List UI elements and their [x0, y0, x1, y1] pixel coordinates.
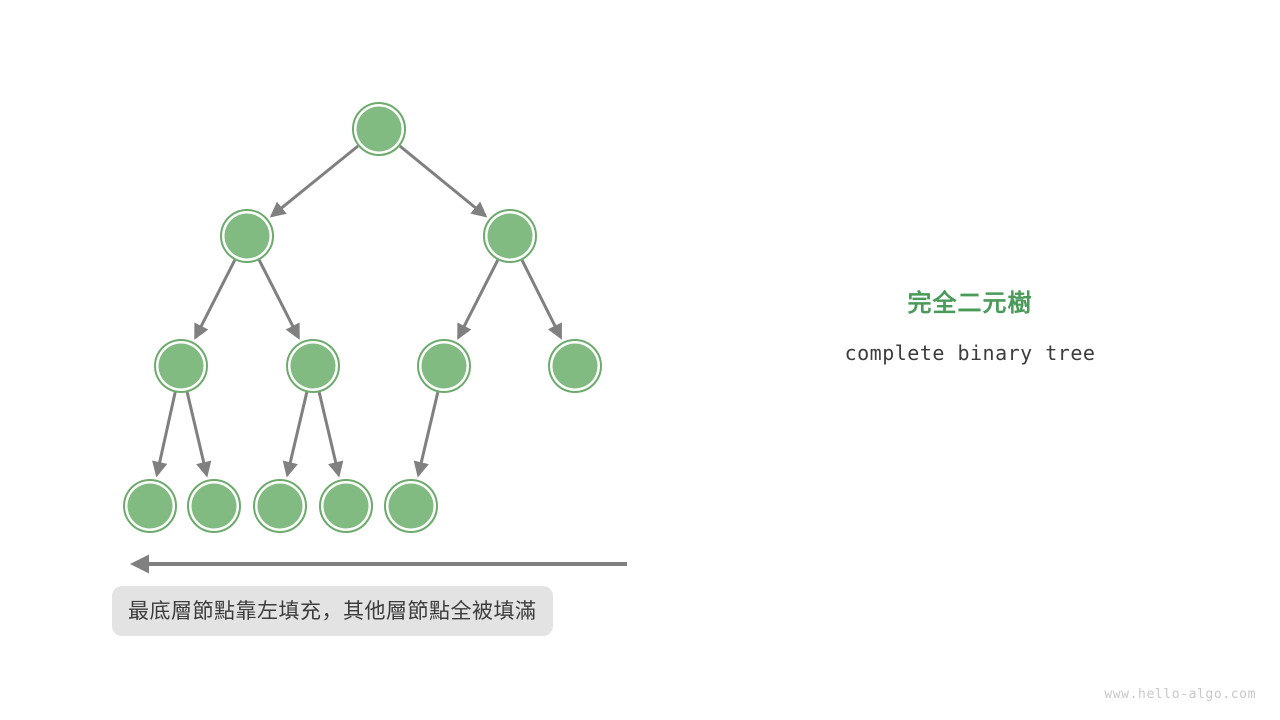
fill-direction-arrow: [130, 555, 627, 574]
tree-node: [188, 480, 240, 532]
tree-node-body: [553, 344, 598, 389]
tree-node: [484, 210, 536, 262]
tree-node-body: [225, 214, 270, 259]
tree-node-body: [324, 484, 369, 529]
tree-node-body: [159, 344, 204, 389]
tree-node: [254, 480, 306, 532]
diagram-canvas: 完全二元樹 complete binary tree 最底層節點靠左填充，其他層…: [0, 0, 1280, 720]
tree-node-body: [357, 107, 402, 152]
tree-node: [353, 103, 405, 155]
tree-node: [155, 340, 207, 392]
tree-node-body: [291, 344, 336, 389]
tree-edge: [418, 392, 437, 475]
tree-edge: [157, 392, 175, 474]
tree-node: [124, 480, 176, 532]
tree-node: [418, 340, 470, 392]
tree-node: [549, 340, 601, 392]
legend-block: 完全二元樹 complete binary tree: [800, 288, 1140, 365]
legend-subtitle: complete binary tree: [800, 341, 1140, 365]
tree-node: [287, 340, 339, 392]
tree-edge: [259, 260, 298, 337]
tree-edge: [272, 146, 358, 216]
tree-edges: [157, 146, 561, 475]
tree-edge: [319, 392, 338, 475]
tree-node: [320, 480, 372, 532]
tree-node-body: [422, 344, 467, 389]
tree-edge: [195, 260, 234, 337]
tree-edge: [187, 392, 206, 475]
tree-nodes: [124, 103, 601, 532]
tree-node-body: [389, 484, 434, 529]
caption-text: 最底層節點靠左填充，其他層節點全被填滿: [112, 586, 553, 636]
tree-edge: [400, 146, 485, 216]
tree-edge: [522, 260, 561, 337]
tree-node: [385, 480, 437, 532]
tree-node-body: [128, 484, 173, 529]
caption-container: 最底層節點靠左填充，其他層節點全被填滿: [112, 586, 553, 636]
tree-node-body: [488, 214, 533, 259]
fill-direction-arrowhead: [130, 555, 149, 574]
tree-node-body: [258, 484, 303, 529]
tree-edge: [458, 260, 497, 337]
tree-node-body: [192, 484, 237, 529]
legend-title: 完全二元樹: [800, 288, 1140, 319]
tree-edge: [287, 392, 306, 475]
tree-node: [221, 210, 273, 262]
watermark: www.hello-algo.com: [1104, 687, 1256, 702]
